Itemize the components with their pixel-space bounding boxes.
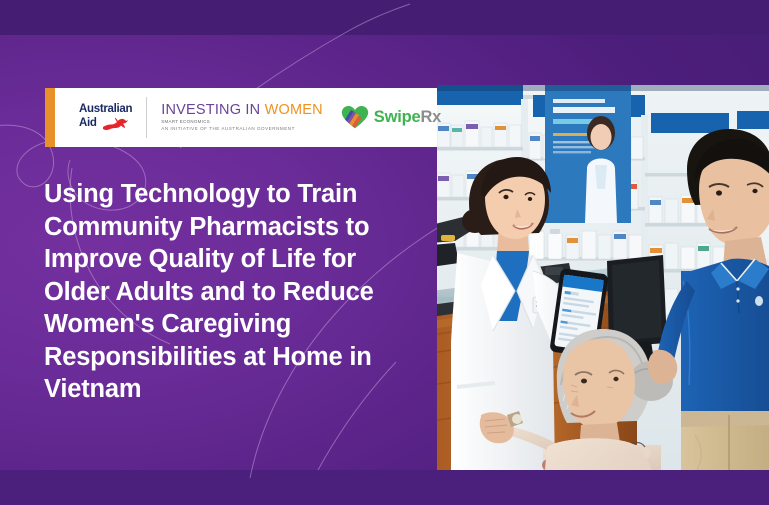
slide-title: Using Technology to Train Community Phar… [44, 178, 426, 406]
iiw-word2: WOMEN [265, 102, 323, 118]
iiw-tagline: SMART ECONOMICS [161, 120, 323, 124]
iiw-word1: INVESTING IN [161, 102, 260, 118]
swiperx-word1: Swipe [374, 108, 421, 126]
heart-stripes-icon [341, 105, 369, 130]
logo-swiperx: SwipeRx [341, 105, 441, 130]
pharmacy-photo [437, 85, 769, 470]
bottom-band [0, 470, 769, 505]
logo-australian-aid: Australian Aid [79, 104, 132, 131]
swiperx-word2: Rx [420, 108, 441, 126]
orange-accent-bar [45, 88, 55, 147]
logo-divider [146, 97, 147, 138]
top-band [0, 0, 769, 35]
australian-aid-line2: Aid [79, 118, 97, 130]
partner-logo-card: Australian Aid INVESTING IN WOMEN SMART … [45, 88, 437, 147]
title-slide: Australian Aid INVESTING IN WOMEN SMART … [0, 0, 769, 505]
logo-investing-in-women: INVESTING IN WOMEN SMART ECONOMICS AN IN… [161, 103, 323, 132]
kangaroo-icon [100, 117, 130, 131]
iiw-subline: AN INITIATIVE OF THE AUSTRALIAN GOVERNME… [161, 127, 323, 132]
australian-aid-line1: Australian [79, 104, 132, 116]
